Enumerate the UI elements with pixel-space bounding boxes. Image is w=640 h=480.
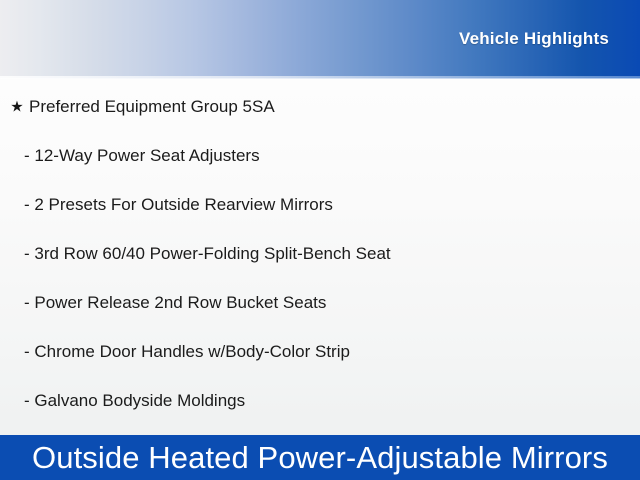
list-item-label: - Galvano Bodyside Moldings (24, 391, 245, 411)
page-title: Vehicle Highlights (459, 29, 609, 49)
highlights-list: ★Preferred Equipment Group 5SA- 12-Way P… (0, 78, 640, 435)
list-item: - 2 Presets For Outside Rearview Mirrors (0, 190, 640, 220)
list-item-label: - Power Release 2nd Row Bucket Seats (24, 293, 326, 313)
list-item: ★Preferred Equipment Group 5SA (0, 92, 640, 122)
footer-caption: Outside Heated Power-Adjustable Mirrors (32, 442, 608, 473)
star-icon: ★ (10, 100, 24, 115)
list-item-label: Preferred Equipment Group 5SA (29, 97, 275, 117)
vehicle-highlights-slide: Vehicle Highlights ★Preferred Equipment … (0, 0, 640, 480)
list-item-label: - 2 Presets For Outside Rearview Mirrors (24, 195, 333, 215)
list-item: - 3rd Row 60/40 Power-Folding Split-Benc… (0, 239, 640, 269)
list-item: - Galvano Bodyside Moldings (0, 386, 640, 416)
list-item-label: - Chrome Door Handles w/Body-Color Strip (24, 342, 350, 362)
footer-banner: Outside Heated Power-Adjustable Mirrors (0, 435, 640, 480)
list-item-label: - 12-Way Power Seat Adjusters (24, 146, 260, 166)
list-item: - Chrome Door Handles w/Body-Color Strip (0, 337, 640, 367)
list-item-label: - 3rd Row 60/40 Power-Folding Split-Benc… (24, 244, 391, 264)
list-item: - Power Release 2nd Row Bucket Seats (0, 288, 640, 318)
list-item: - 12-Way Power Seat Adjusters (0, 141, 640, 171)
header-banner: Vehicle Highlights (0, 0, 640, 78)
